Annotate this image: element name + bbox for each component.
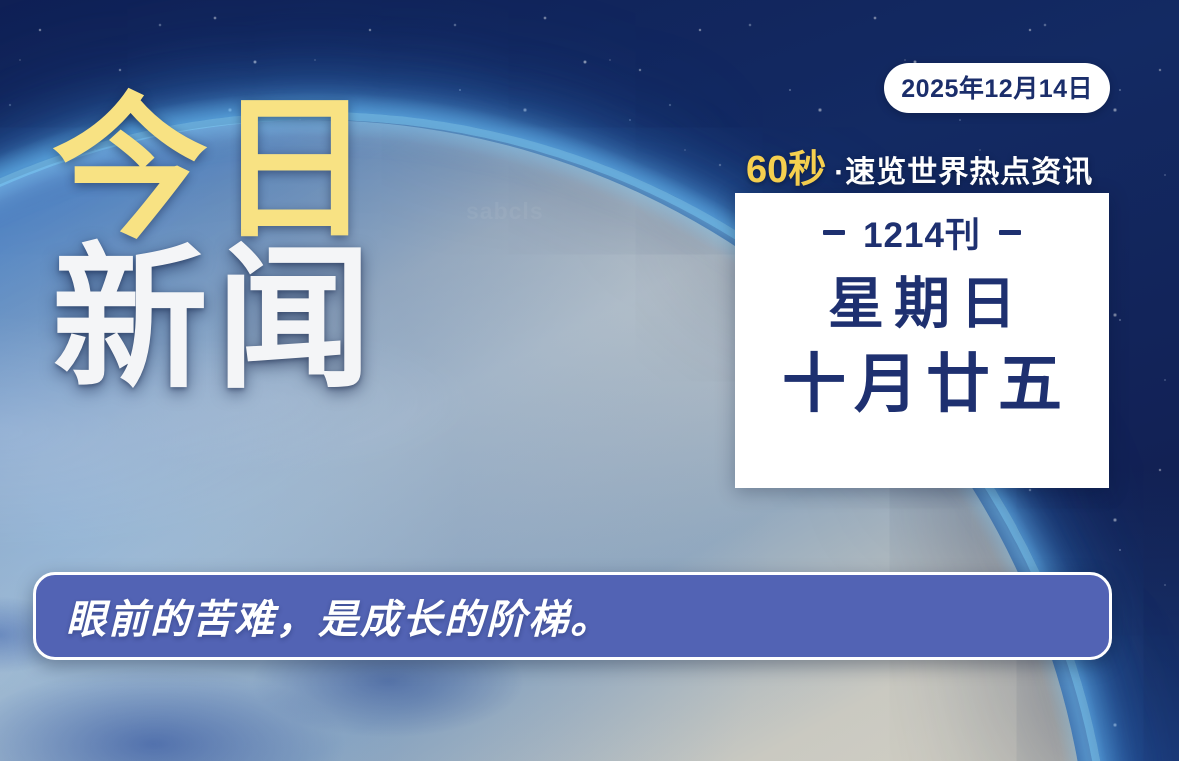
news-poster: sabcls 今日 新闻 2025年12月14日 60秒 ·速览世界热点资讯 1… [0, 0, 1179, 761]
title-line-xinwen: 新闻 [52, 242, 380, 398]
dash-left-icon [823, 230, 845, 235]
poster-title: 今日 新闻 [52, 92, 380, 398]
tagline-highlight: 60秒 [746, 138, 826, 193]
issue-number-label: 1214刊 [863, 207, 981, 258]
quote-text: 眼前的苦难，是成长的阶梯。 [66, 587, 612, 645]
issue-number-row: 1214刊 [823, 207, 1021, 258]
tagline-rest: ·速览世界热点资讯 [834, 147, 1093, 191]
weekday-label: 星期日 [818, 272, 1026, 336]
lunar-date-label: 十月廿五 [774, 348, 1070, 422]
title-line-jinri: 今日 [52, 92, 380, 248]
date-badge: 2025年12月14日 [884, 63, 1110, 113]
quote-banner: 眼前的苦难，是成长的阶梯。 [33, 572, 1112, 660]
tagline: 60秒 ·速览世界热点资讯 [746, 138, 1093, 193]
dash-right-icon [999, 230, 1021, 235]
issue-info-card: 1214刊 星期日 十月廿五 [735, 193, 1109, 488]
